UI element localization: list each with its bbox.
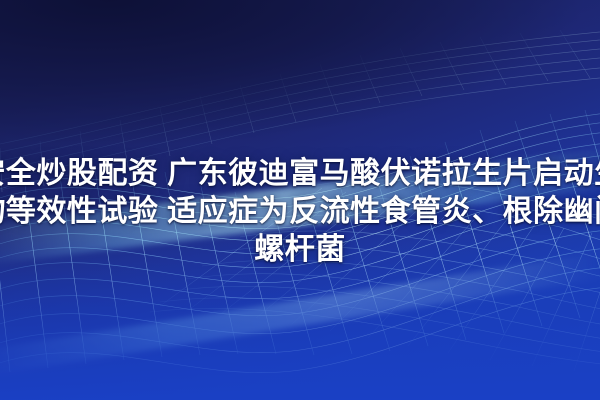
article-banner: 安全炒股配资 广东彼迪富马酸伏诺拉生片启动生物等效性试验 适应症为反流性食管炎、… bbox=[0, 0, 600, 400]
article-headline: 安全炒股配资 广东彼迪富马酸伏诺拉生片启动生物等效性试验 适应症为反流性食管炎、… bbox=[0, 155, 600, 269]
